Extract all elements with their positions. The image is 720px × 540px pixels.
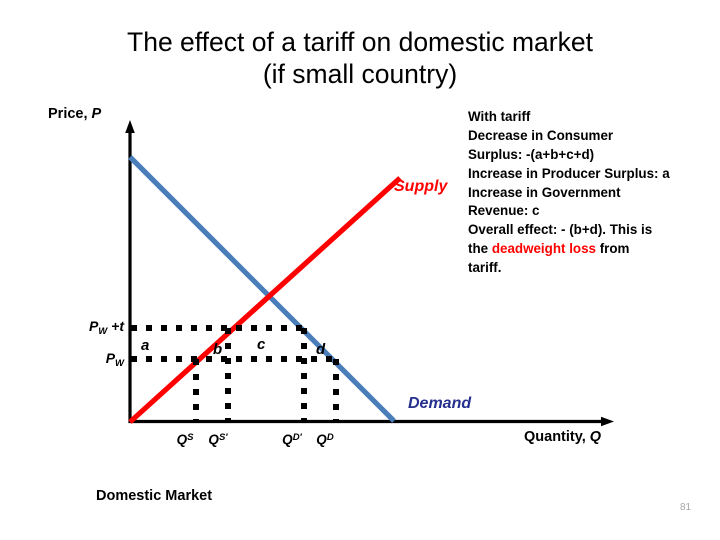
welfare-region-label-b: b <box>213 341 222 358</box>
y-axis-arrow <box>125 120 135 133</box>
page-number: 81 <box>680 502 691 513</box>
note-line-1: With tariff <box>468 108 700 127</box>
quantity-tick-base: Q <box>177 432 188 447</box>
quantity-tick-base: Q <box>208 432 219 447</box>
deadweight-loss-highlight: deadweight loss <box>492 241 596 256</box>
welfare-region-label-d: d <box>316 341 325 358</box>
price-tick-base: P <box>89 318 98 334</box>
note-line-3: Surplus: -(a+b+c+d) <box>468 146 700 165</box>
note-line-5: Increase in Government <box>468 184 700 203</box>
quantity-tick-superscript: S <box>187 432 193 443</box>
price-axis-title-text: Price, <box>48 106 92 122</box>
quantity-tick-superscript: D′ <box>293 432 302 443</box>
quantity-tick-superscript: D <box>327 432 334 443</box>
quantity-axis-symbol: Q <box>590 429 601 445</box>
note-line-2: Decrease in Consumer <box>468 127 700 146</box>
supply-curve-label: Supply <box>394 178 447 196</box>
tariff-effects-notes: With tariff Decrease in Consumer Surplus… <box>468 108 700 278</box>
price-axis-symbol: P <box>92 106 102 122</box>
price-tick-label-pw-plus-t: PW +t <box>74 318 124 334</box>
demand-curve-label: Demand <box>408 395 471 413</box>
price-tick-label-pw: PW <box>74 350 124 366</box>
quantity-tick-label-qs-prime: QS′ <box>198 432 238 447</box>
note-line-4: Increase in Producer Surplus: a <box>468 165 700 184</box>
note-line-9: tariff. <box>468 259 700 278</box>
note-line-7: Overall effect: - (b+d). This is <box>468 221 700 240</box>
price-tick-suffix: +t <box>107 318 124 334</box>
footer-caption: Domestic Market <box>96 488 212 504</box>
quantity-tick-superscript: S′ <box>219 432 228 443</box>
note-line-6: Revenue: c <box>468 202 700 221</box>
note-line-8: the deadweight loss from <box>468 240 700 259</box>
demand-curve <box>130 157 394 421</box>
note-line-8-suffix: from <box>596 241 629 256</box>
note-line-8-prefix: the <box>468 241 492 256</box>
quantity-axis-title: Quantity, Q <box>524 429 601 445</box>
welfare-region-label-c: c <box>257 336 265 353</box>
price-tick-subscript: W <box>115 358 124 369</box>
price-axis-title: Price, P <box>48 106 101 122</box>
x-axis-arrow <box>601 417 614 427</box>
quantity-tick-label-qd: QD <box>305 432 345 447</box>
quantity-tick-base: Q <box>282 432 293 447</box>
welfare-region-label-a: a <box>141 337 149 354</box>
quantity-axis-title-text: Quantity, <box>524 429 590 445</box>
price-tick-base: P <box>106 350 115 366</box>
price-tick-subscript: W <box>98 326 107 337</box>
quantity-tick-base: Q <box>316 432 327 447</box>
